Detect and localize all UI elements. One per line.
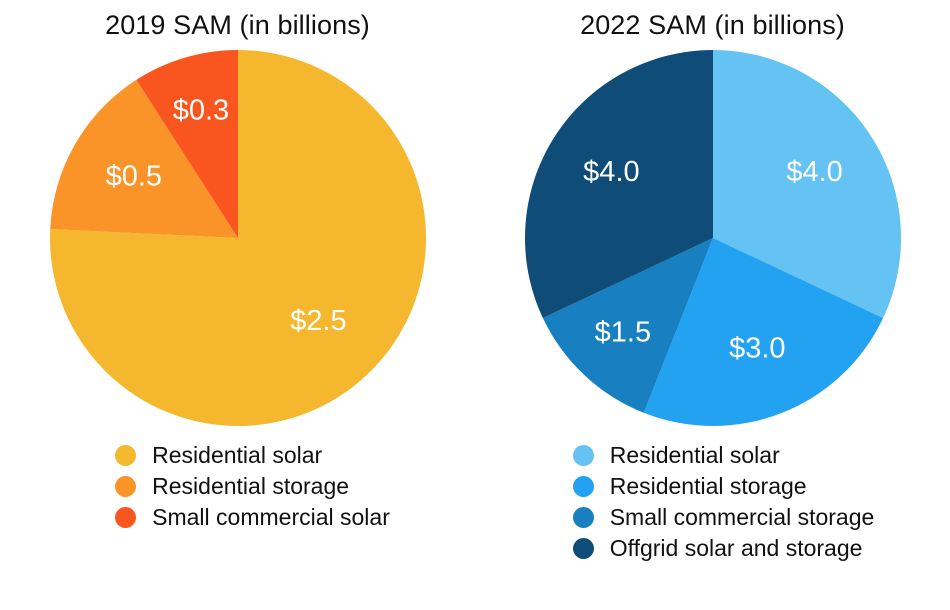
pie-slice-label: $1.5 (594, 317, 650, 349)
pie-slice-label: $0.3 (172, 94, 228, 126)
legend-item-label: Offgrid solar and storage (610, 535, 863, 562)
pie-slice-label: $0.5 (105, 160, 161, 192)
pie-slice-label: $4.0 (583, 156, 639, 188)
pie-svg-2019: $2.5$0.5$0.3 (48, 48, 428, 428)
pie-chart-figure: 2019 SAM (in billions) $2.5$0.5$0.3 Resi… (0, 0, 950, 610)
legend-item[interactable]: Small commercial storage (573, 502, 875, 532)
pie-slice-label: $2.5 (290, 305, 346, 337)
chart-panel-2022: 2022 SAM (in billions) $4.0$3.0$1.5$4.0 … (475, 0, 950, 610)
pie-chart-2019: $2.5$0.5$0.3 (48, 48, 428, 428)
legend-swatch-icon (115, 476, 136, 497)
pie-chart-2022: $4.0$3.0$1.5$4.0 (523, 48, 903, 428)
pie-svg-2022: $4.0$3.0$1.5$4.0 (523, 48, 903, 428)
legend-item[interactable]: Residential solar (573, 440, 780, 470)
legend-2022: Residential solarResidential storageSmal… (573, 440, 875, 563)
legend-item-label: Small commercial storage (610, 504, 875, 531)
legend-2019: Residential solarResidential storageSmal… (115, 440, 390, 532)
legend-swatch-icon (573, 476, 594, 497)
legend-item-label: Residential storage (152, 473, 349, 500)
legend-item[interactable]: Small commercial solar (115, 502, 390, 532)
legend-swatch-icon (573, 538, 594, 559)
page-title-2019: 2019 SAM (in billions) (105, 8, 370, 42)
legend-item[interactable]: Offgrid solar and storage (573, 533, 863, 563)
legend-swatch-icon (573, 445, 594, 466)
legend-item-label: Small commercial solar (152, 504, 390, 531)
legend-item-label: Residential solar (610, 442, 780, 469)
pie-slice-label: $4.0 (786, 156, 842, 188)
chart-panel-2019: 2019 SAM (in billions) $2.5$0.5$0.3 Resi… (0, 0, 475, 610)
legend-item-label: Residential storage (610, 473, 807, 500)
page-title-2022: 2022 SAM (in billions) (580, 8, 845, 42)
legend-item[interactable]: Residential storage (573, 471, 807, 501)
pie-slice-label: $3.0 (729, 333, 785, 365)
legend-item-label: Residential solar (152, 442, 322, 469)
legend-swatch-icon (573, 507, 594, 528)
legend-item[interactable]: Residential storage (115, 471, 349, 501)
legend-swatch-icon (115, 445, 136, 466)
legend-item[interactable]: Residential solar (115, 440, 322, 470)
legend-swatch-icon (115, 507, 136, 528)
